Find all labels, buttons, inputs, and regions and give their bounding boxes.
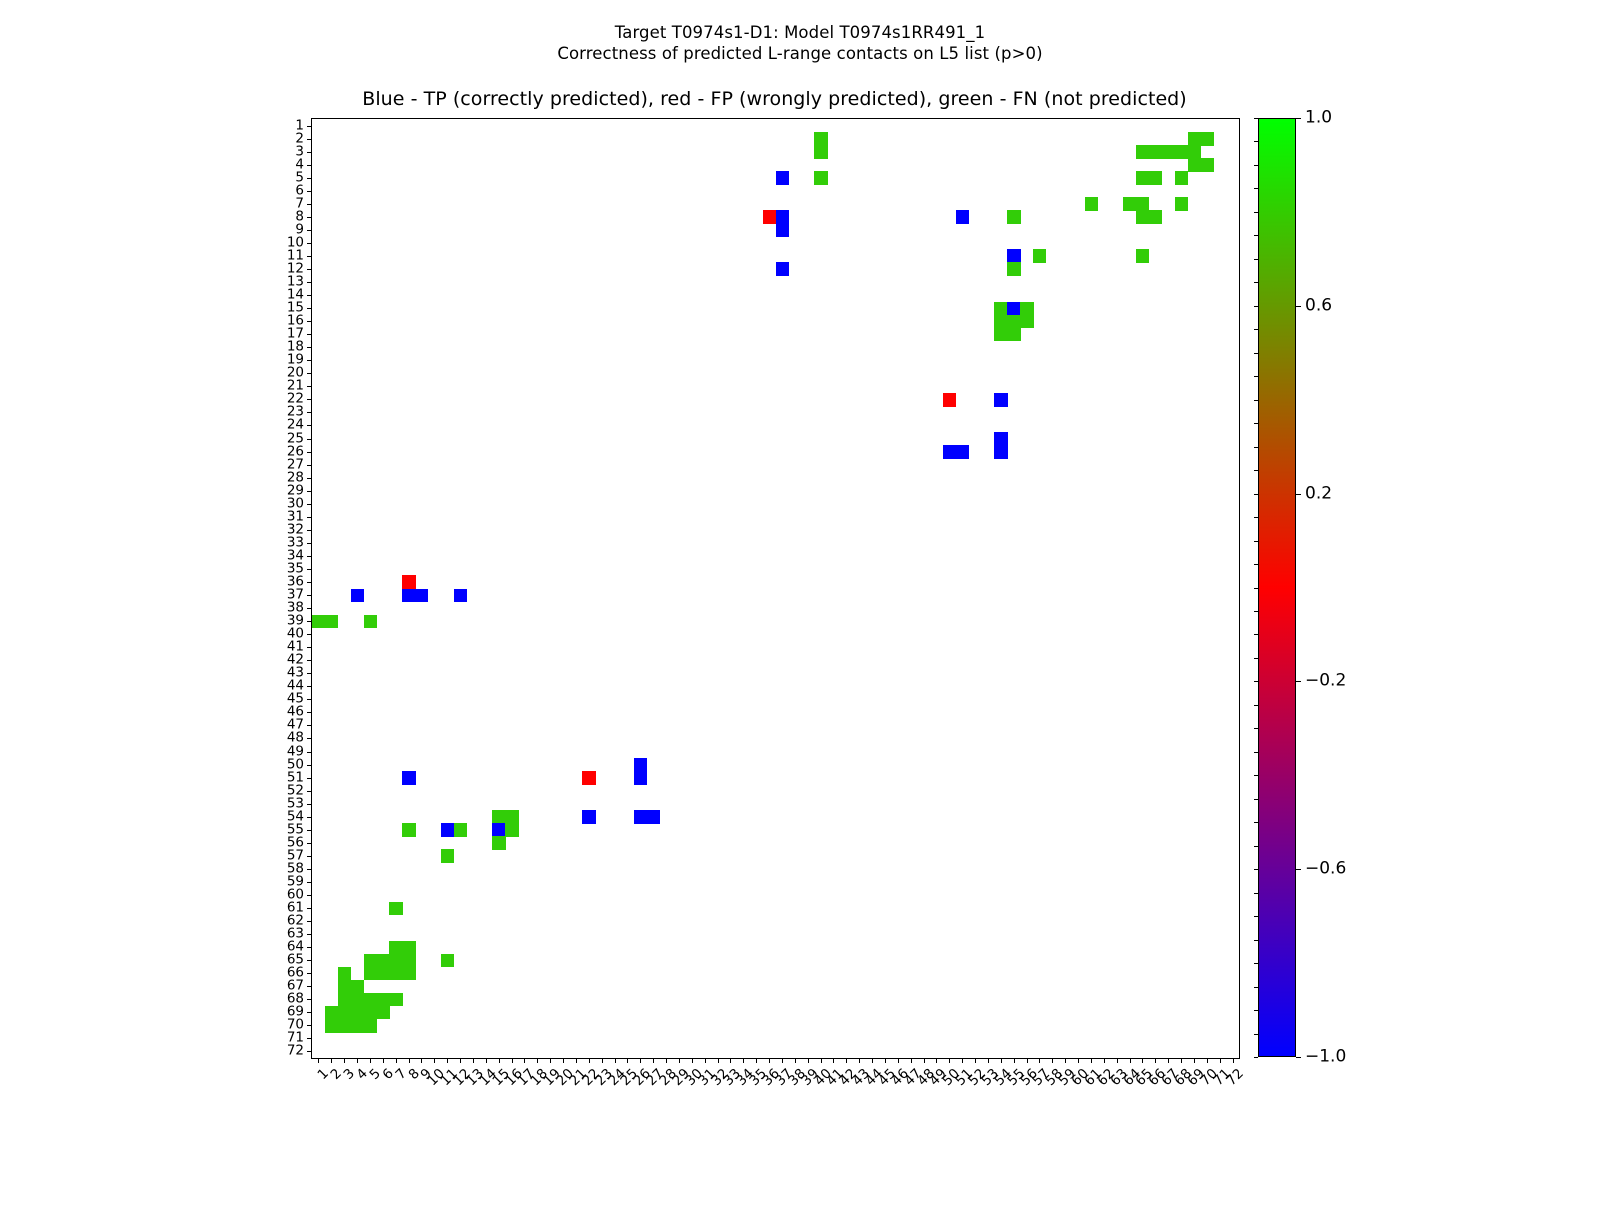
y-axis-tick — [307, 295, 312, 296]
y-axis-tick — [307, 1025, 312, 1026]
x-axis-tick — [537, 1058, 538, 1063]
colorbar-minor-tick — [1254, 681, 1258, 682]
y-axis-tick — [307, 452, 312, 453]
x-axis-tick — [409, 1058, 410, 1063]
y-axis-tick — [307, 373, 312, 374]
y-axis-tick — [307, 282, 312, 283]
contact-cell — [1123, 197, 1136, 211]
colorbar-minor-tick — [1254, 259, 1258, 260]
colorbar-minor-tick — [1254, 846, 1258, 847]
contact-cell — [492, 823, 505, 837]
x-axis-tick — [1078, 1058, 1079, 1063]
contact-cell — [1136, 145, 1149, 159]
x-axis-tick — [1014, 1058, 1015, 1063]
y-axis-tick — [307, 204, 312, 205]
contact-cell — [364, 967, 377, 981]
y-axis-tick — [307, 634, 312, 635]
contact-cell — [776, 262, 789, 276]
colorbar-tick — [1296, 869, 1301, 870]
x-axis-tick — [576, 1058, 577, 1063]
x-axis-tick — [833, 1058, 834, 1063]
colorbar-tick — [1296, 681, 1301, 682]
y-axis-tick — [307, 465, 312, 466]
contact-cell — [1136, 210, 1149, 224]
colorbar-minor-tick — [1254, 235, 1258, 236]
y-axis-tick — [307, 491, 312, 492]
contact-cell — [814, 171, 827, 185]
contact-cell — [814, 132, 827, 146]
contact-cell — [1007, 249, 1020, 263]
y-axis-tick — [307, 269, 312, 270]
contact-cell — [1085, 197, 1098, 211]
y-axis-tick — [307, 934, 312, 935]
y-axis-tick — [307, 360, 312, 361]
y-axis-tick — [307, 165, 312, 166]
x-axis-tick — [872, 1058, 873, 1063]
x-axis-tick — [524, 1058, 525, 1063]
contact-cell — [402, 589, 415, 603]
y-axis-tick — [307, 921, 312, 922]
y-axis-tick — [307, 621, 312, 622]
x-axis-tick — [975, 1058, 976, 1063]
contact-cell — [338, 967, 351, 981]
y-axis-tick — [307, 947, 312, 948]
y-axis-tick — [307, 243, 312, 244]
contact-cell — [1136, 249, 1149, 263]
y-axis-tick — [307, 960, 312, 961]
x-axis-tick — [1220, 1058, 1221, 1063]
y-axis-tick — [307, 660, 312, 661]
x-axis-tick — [383, 1058, 384, 1063]
x-axis-tick — [563, 1058, 564, 1063]
contact-cell — [956, 210, 969, 224]
x-axis-tick — [344, 1058, 345, 1063]
contact-cell — [1188, 158, 1201, 172]
y-axis-tick-label: 72 — [287, 1045, 304, 1059]
contact-cell — [364, 1006, 377, 1020]
x-axis-tick — [743, 1058, 744, 1063]
colorbar-minor-tick — [1254, 752, 1258, 753]
y-axis-tick — [307, 386, 312, 387]
y-axis-tick — [307, 869, 312, 870]
figure-legend-subtitle: Blue - TP (correctly predicted), red - F… — [311, 88, 1238, 110]
x-axis-tick — [357, 1058, 358, 1063]
colorbar-minor-tick — [1254, 588, 1258, 589]
y-axis-tick — [307, 699, 312, 700]
y-axis-tick — [307, 725, 312, 726]
y-axis-tick — [307, 178, 312, 179]
x-axis-tick — [1207, 1058, 1208, 1063]
y-axis-tick — [307, 256, 312, 257]
y-axis-tick — [307, 504, 312, 505]
y-axis-tick — [307, 230, 312, 231]
contact-cell — [325, 615, 338, 629]
y-axis-tick — [307, 412, 312, 413]
contact-cell — [364, 615, 377, 629]
contact-cell — [1200, 158, 1213, 172]
y-axis-tick — [307, 765, 312, 766]
x-axis-tick — [1091, 1058, 1092, 1063]
y-axis-tick — [307, 556, 312, 557]
colorbar-minor-tick — [1254, 188, 1258, 189]
y-axis-tick — [307, 152, 312, 153]
x-axis-tick — [1001, 1058, 1002, 1063]
contact-cell — [351, 589, 364, 603]
x-axis-tick — [859, 1058, 860, 1063]
x-axis-tick — [1194, 1058, 1195, 1063]
colorbar-minor-tick — [1254, 329, 1258, 330]
contact-cell — [364, 1019, 377, 1033]
y-axis-tick — [307, 530, 312, 531]
colorbar-minor-tick — [1254, 940, 1258, 941]
colorbar-minor-tick — [1254, 963, 1258, 964]
contact-cell — [389, 941, 402, 955]
x-axis-tick — [949, 1058, 950, 1063]
x-axis-tick — [640, 1058, 641, 1063]
x-axis-tick — [936, 1058, 937, 1063]
contact-cell — [776, 223, 789, 237]
contact-cell — [402, 823, 415, 837]
y-axis-tick — [307, 752, 312, 753]
x-axis-tick — [589, 1058, 590, 1063]
y-axis-tick — [307, 347, 312, 348]
contact-cell — [582, 810, 595, 824]
contact-cell — [1175, 171, 1188, 185]
contact-cell — [1149, 145, 1162, 159]
colorbar-tick — [1296, 494, 1301, 495]
contact-cell — [994, 432, 1007, 446]
contact-cell — [351, 980, 364, 994]
y-axis-tick — [307, 830, 312, 831]
contact-cell — [994, 328, 1007, 342]
y-axis-tick — [307, 712, 312, 713]
x-axis-tick — [988, 1058, 989, 1063]
y-axis-tick — [307, 973, 312, 974]
x-axis-tick — [550, 1058, 551, 1063]
contact-cell — [1020, 315, 1033, 329]
contact-cell — [994, 393, 1007, 407]
colorbar-minor-tick — [1254, 987, 1258, 988]
y-axis-tick — [307, 1038, 312, 1039]
contact-cell — [1200, 132, 1213, 146]
colorbar-minor-tick — [1254, 611, 1258, 612]
x-axis-tick — [615, 1058, 616, 1063]
x-axis-tick — [499, 1058, 500, 1063]
y-axis-tick — [307, 856, 312, 857]
x-axis-tick — [318, 1058, 319, 1063]
colorbar-minor-tick — [1254, 282, 1258, 283]
colorbar-minor-tick — [1254, 423, 1258, 424]
contact-cell — [454, 589, 467, 603]
x-axis-tick — [1065, 1058, 1066, 1063]
colorbar-minor-tick — [1254, 141, 1258, 142]
colorbar-minor-tick — [1254, 447, 1258, 448]
figure-title-line-1: Target T0974s1-D1: Model T0974s1RR491_1 — [0, 22, 1600, 43]
y-axis-tick — [307, 191, 312, 192]
y-axis-tick — [307, 908, 312, 909]
contact-cell — [441, 849, 454, 863]
y-axis-tick — [307, 986, 312, 987]
contact-cell — [1149, 210, 1162, 224]
colorbar-minor-tick — [1254, 165, 1258, 166]
y-axis-tick — [307, 425, 312, 426]
contact-cell — [994, 302, 1007, 316]
contact-cell — [389, 993, 402, 1007]
x-axis-tick — [396, 1058, 397, 1063]
x-axis-tick — [911, 1058, 912, 1063]
y-axis-tick — [307, 308, 312, 309]
x-axis-tick — [1168, 1058, 1169, 1063]
contact-cell — [492, 836, 505, 850]
contact-cell — [364, 954, 377, 968]
contact-cell — [647, 810, 660, 824]
x-axis-tick — [705, 1058, 706, 1063]
x-axis-tick — [962, 1058, 963, 1063]
x-axis-tick — [666, 1058, 667, 1063]
contact-cell — [582, 771, 595, 785]
figure-title-line-2: Correctness of predicted L-range contact… — [0, 43, 1600, 64]
colorbar-minor-tick — [1254, 118, 1258, 119]
contact-cell — [634, 810, 647, 824]
contact-cell — [415, 589, 428, 603]
x-axis-tick — [924, 1058, 925, 1063]
colorbar-minor-tick — [1254, 564, 1258, 565]
contact-cell — [505, 823, 518, 837]
x-axis-tick — [1233, 1058, 1234, 1063]
contact-cell — [376, 1006, 389, 1020]
y-axis-tick — [307, 334, 312, 335]
colorbar-minor-tick — [1254, 705, 1258, 706]
contact-cell — [364, 993, 377, 1007]
contact-cell — [1188, 145, 1201, 159]
colorbar-gradient — [1258, 118, 1296, 1057]
contact-cell — [814, 145, 827, 159]
contact-cell — [1007, 210, 1020, 224]
colorbar-minor-tick — [1254, 822, 1258, 823]
y-axis-tick — [307, 686, 312, 687]
y-axis-tick — [307, 608, 312, 609]
colorbar-tick-label: 1.0 — [1305, 110, 1332, 127]
colorbar-minor-tick — [1254, 541, 1258, 542]
contact-cell — [402, 967, 415, 981]
y-axis-tick — [307, 595, 312, 596]
y-axis-tick — [307, 895, 312, 896]
y-axis-tick — [307, 439, 312, 440]
contact-cell — [1149, 171, 1162, 185]
contact-cell — [956, 445, 969, 459]
colorbar-minor-tick — [1254, 306, 1258, 307]
x-axis-tick — [331, 1058, 332, 1063]
contact-cell — [1020, 302, 1033, 316]
contact-cell — [943, 393, 956, 407]
contact-cell — [1175, 197, 1188, 211]
contact-cell — [402, 771, 415, 785]
colorbar-minor-tick — [1254, 1010, 1258, 1011]
y-axis-tick — [307, 673, 312, 674]
contact-cell — [351, 993, 364, 1007]
x-axis-tick — [846, 1058, 847, 1063]
contact-cell — [376, 993, 389, 1007]
y-axis-tick — [307, 778, 312, 779]
x-axis-tick — [602, 1058, 603, 1063]
x-axis-tick — [885, 1058, 886, 1063]
contact-cell — [338, 980, 351, 994]
contact-cell — [351, 1006, 364, 1020]
contact-cell — [763, 210, 776, 224]
contact-cell — [441, 954, 454, 968]
x-axis-tick — [1039, 1058, 1040, 1063]
contact-cell — [389, 902, 402, 916]
x-axis-tick — [1181, 1058, 1182, 1063]
colorbar-minor-tick — [1254, 1034, 1258, 1035]
contact-cell — [338, 1006, 351, 1020]
contact-cell — [492, 810, 505, 824]
contact-cell — [441, 823, 454, 837]
x-axis-tick — [795, 1058, 796, 1063]
colorbar-minor-tick — [1254, 728, 1258, 729]
y-axis-tick — [307, 804, 312, 805]
colorbar-tick-label: −0.6 — [1305, 861, 1346, 878]
contact-cell — [994, 315, 1007, 329]
y-axis-tick — [307, 399, 312, 400]
contact-cell — [994, 445, 1007, 459]
x-axis-tick — [1142, 1058, 1143, 1063]
contact-cell — [1007, 315, 1020, 329]
colorbar-minor-tick — [1254, 893, 1258, 894]
x-axis-tick — [1052, 1058, 1053, 1063]
y-axis-tick — [307, 1051, 312, 1052]
contact-cell — [1007, 302, 1020, 316]
y-axis-tick — [307, 517, 312, 518]
contact-cell — [338, 993, 351, 1007]
x-axis-tick — [1027, 1058, 1028, 1063]
contact-cell — [389, 967, 402, 981]
contact-cell — [634, 758, 647, 772]
contact-cell — [376, 967, 389, 981]
x-axis-tick — [370, 1058, 371, 1063]
contact-cell — [1136, 197, 1149, 211]
contact-cells-layer — [312, 119, 1239, 1058]
y-axis-tick — [307, 321, 312, 322]
y-axis-tick — [307, 139, 312, 140]
y-axis-tick — [307, 738, 312, 739]
contact-cell — [634, 771, 647, 785]
colorbar-minor-tick — [1254, 400, 1258, 401]
x-axis-tick — [718, 1058, 719, 1063]
contact-cell — [1007, 262, 1020, 276]
colorbar-tick-label: −1.0 — [1305, 1049, 1346, 1066]
y-axis-tick — [307, 126, 312, 127]
colorbar-tick — [1296, 1057, 1301, 1058]
x-axis-tick — [821, 1058, 822, 1063]
contact-cell — [776, 210, 789, 224]
y-axis-tick — [307, 1012, 312, 1013]
x-axis-tick — [769, 1058, 770, 1063]
colorbar-minor-tick — [1254, 353, 1258, 354]
contact-cell — [1033, 249, 1046, 263]
contact-cell — [1007, 328, 1020, 342]
y-axis-tick — [307, 543, 312, 544]
contact-cell — [776, 171, 789, 185]
colorbar-minor-tick — [1254, 799, 1258, 800]
contact-cell — [351, 1019, 364, 1033]
contact-cell — [325, 1019, 338, 1033]
x-axis-tick — [460, 1058, 461, 1063]
x-axis-tick — [692, 1058, 693, 1063]
x-axis-tick — [473, 1058, 474, 1063]
colorbar-tick-label: −0.2 — [1305, 673, 1346, 690]
y-axis-tick — [307, 582, 312, 583]
x-axis-tick — [1117, 1058, 1118, 1063]
y-axis-tick — [307, 569, 312, 570]
y-axis-tick — [307, 791, 312, 792]
y-axis-tick — [307, 999, 312, 1000]
contact-cell — [325, 1006, 338, 1020]
colorbar-tick-label: 0.2 — [1305, 485, 1332, 502]
x-axis-tick — [512, 1058, 513, 1063]
x-axis-tick — [782, 1058, 783, 1063]
y-axis-tick — [307, 882, 312, 883]
colorbar-tick-label: 0.6 — [1305, 297, 1332, 314]
colorbar-minor-tick — [1254, 775, 1258, 776]
contact-cell — [312, 615, 325, 629]
colorbar-minor-tick — [1254, 634, 1258, 635]
x-axis-tick — [808, 1058, 809, 1063]
x-axis-tick — [1155, 1058, 1156, 1063]
contact-cell — [505, 810, 518, 824]
x-axis-tick — [486, 1058, 487, 1063]
contact-cell — [389, 954, 402, 968]
contact-cell — [1136, 171, 1149, 185]
contact-cell — [402, 954, 415, 968]
contact-cell — [402, 575, 415, 589]
contact-map-plot-area: 1234567891011121314151617181920212223242… — [311, 118, 1240, 1059]
x-axis-tick — [434, 1058, 435, 1063]
x-axis-tick — [1104, 1058, 1105, 1063]
colorbar-minor-tick — [1254, 470, 1258, 471]
x-axis-tick — [627, 1058, 628, 1063]
colorbar-minor-tick — [1254, 1057, 1258, 1058]
figure-title-block: Target T0974s1-D1: Model T0974s1RR491_1 … — [0, 22, 1600, 64]
x-axis-tick — [679, 1058, 680, 1063]
x-axis-tick — [756, 1058, 757, 1063]
colorbar-minor-tick — [1254, 494, 1258, 495]
colorbar-minor-tick — [1254, 658, 1258, 659]
contact-cell — [1162, 145, 1175, 159]
colorbar-minor-tick — [1254, 212, 1258, 213]
x-axis-tick — [421, 1058, 422, 1063]
contact-cell — [1175, 145, 1188, 159]
contact-cell — [338, 1019, 351, 1033]
contact-cell — [1188, 132, 1201, 146]
x-axis-tick — [653, 1058, 654, 1063]
y-axis-tick — [307, 817, 312, 818]
x-axis-tick — [1130, 1058, 1131, 1063]
y-axis-tick — [307, 843, 312, 844]
contact-cell — [454, 823, 467, 837]
colorbar-tick — [1296, 118, 1301, 119]
colorbar-minor-tick — [1254, 376, 1258, 377]
contact-cell — [402, 941, 415, 955]
y-axis-tick — [307, 647, 312, 648]
colorbar: 1.00.60.2−0.2−0.6−1.0 — [1258, 118, 1296, 1057]
x-axis-tick — [730, 1058, 731, 1063]
y-axis-tick — [307, 217, 312, 218]
colorbar-minor-tick — [1254, 517, 1258, 518]
contact-cell — [943, 445, 956, 459]
contact-cell — [376, 954, 389, 968]
colorbar-minor-tick — [1254, 916, 1258, 917]
